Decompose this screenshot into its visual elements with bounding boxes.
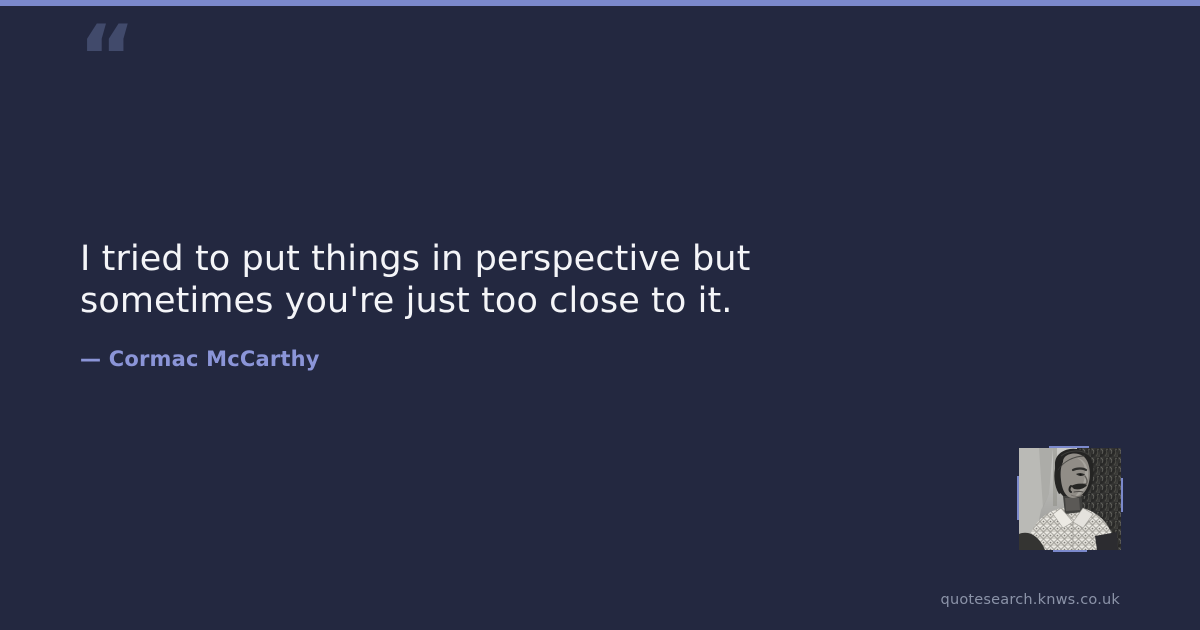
portrait-illustration [1019, 448, 1121, 550]
source-url: quotesearch.knws.co.uk [941, 592, 1120, 608]
author-portrait [1019, 448, 1121, 550]
quote-attribution: — Cormac McCarthy [80, 347, 880, 371]
author-portrait-image [1019, 448, 1121, 550]
open-quote-icon: “ [78, 14, 134, 102]
quote-block: I tried to put things in perspective but… [80, 238, 880, 371]
portrait-accent-right [1121, 478, 1123, 512]
portrait-accent-bottom [1053, 550, 1087, 552]
top-accent-bar [0, 0, 1200, 6]
quote-text: I tried to put things in perspective but… [80, 238, 880, 322]
